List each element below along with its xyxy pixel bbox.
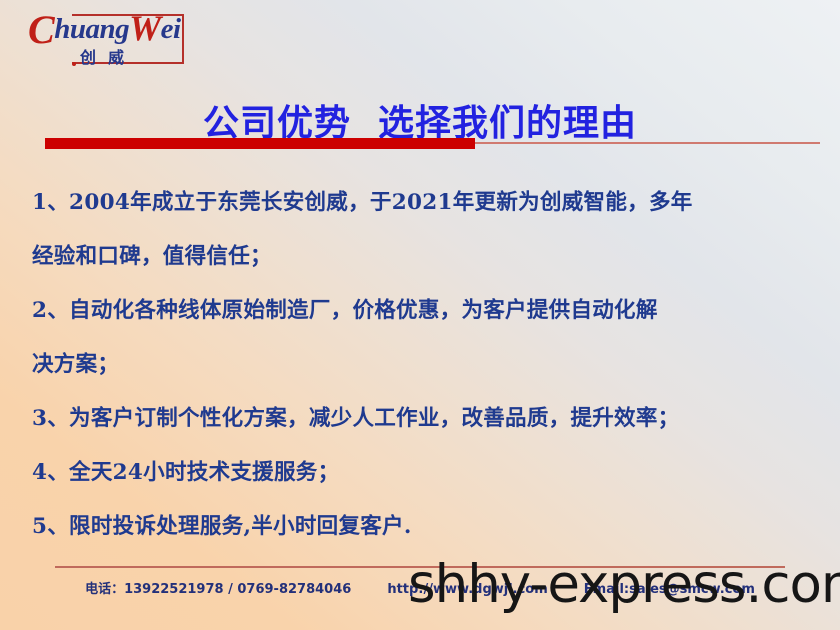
list-item: 5、限时投诉处理服务,半小时回复客户.	[32, 500, 822, 554]
slide-canvas: ChuangWei 创威 公司优势 选择我们的理由 1、2004年成立于东莞长安…	[0, 0, 840, 630]
list-item: 4、全天24小时技术支援服务；	[32, 446, 822, 500]
logo-text-ei: ei	[161, 13, 181, 45]
company-logo: ChuangWei 创威	[28, 8, 184, 70]
list-item: 经验和口碑，值得信任；	[32, 230, 822, 284]
list-item: 决方案；	[32, 338, 822, 392]
logo-letter-c: C	[28, 7, 54, 52]
logo-text-huang: huang	[54, 13, 129, 45]
title-accent-bar	[45, 138, 475, 149]
list-item: 3、为客户订制个性化方案，减少人工作业，改善品质，提升效率；	[32, 392, 822, 446]
advantages-list: 1、2004年成立于东莞长安创威，于2021年更新为创威智能，多年 经验和口碑，…	[32, 176, 822, 554]
logo-letter-w: W	[129, 8, 161, 48]
logo-chinese-name: 创威	[80, 44, 136, 68]
footer-phone: 电话：13922521978 / 0769-82784046	[85, 582, 351, 597]
watermark-text: shhy-express.com	[408, 558, 840, 611]
list-item: 2、自动化各种线体原始制造厂，价格优惠，为客户提供自动化解	[32, 284, 822, 338]
logo-dot-decoration	[72, 62, 76, 66]
list-item: 1、2004年成立于东莞长安创威，于2021年更新为创威智能，多年	[32, 176, 822, 230]
